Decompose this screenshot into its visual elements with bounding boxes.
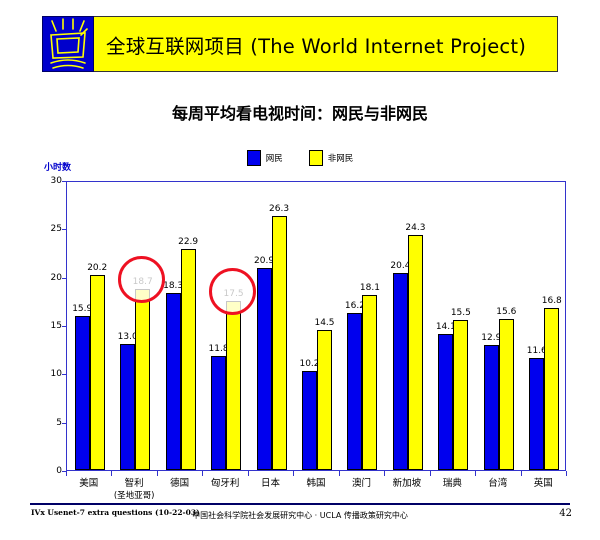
bar-nonuser[interactable]: 18.1 [362, 295, 377, 470]
legend-label-nonuser: 非网民 [328, 152, 354, 164]
bar-user[interactable]: 18.3 [166, 293, 181, 470]
x-tick-mark [430, 471, 431, 476]
bar-value-label: 18.7 [133, 277, 153, 287]
bar-value-label: 18.1 [360, 283, 380, 293]
bar-value-label: 12.9 [481, 333, 501, 343]
bar-nonuser[interactable]: 17.5 [226, 301, 241, 470]
bar-group: 18.322.9 [166, 182, 196, 470]
x-tick-mark [293, 471, 294, 476]
bar-value-label: 18.3 [163, 281, 183, 291]
x-tick-mark [157, 471, 158, 476]
bar-user[interactable]: 13.0 [120, 344, 135, 470]
chart-plot-wrapper: 15.920.213.018.718.322.911.817.520.926.3… [0, 0, 600, 540]
x-axis-label: 德国 [170, 478, 189, 490]
x-tick-mark [384, 471, 385, 476]
y-tick-label: 20 [36, 273, 62, 283]
bar-nonuser[interactable]: 20.2 [90, 275, 105, 470]
y-tick-mark [62, 278, 66, 279]
page-title: 全球互联网项目 (The World Internet Project) [106, 30, 526, 59]
x-tick-mark [566, 471, 567, 476]
y-tick-mark [62, 326, 66, 327]
bar-user[interactable]: 20.9 [257, 268, 272, 470]
bar-user[interactable]: 20.4 [393, 273, 408, 470]
monitor-globe-icon-glyph [43, 17, 93, 71]
bar-group: 12.915.6 [484, 182, 514, 470]
x-tick-mark [111, 471, 112, 476]
bar-value-label: 15.5 [451, 308, 471, 318]
bar-user[interactable]: 14.1 [438, 334, 453, 470]
y-tick-label: 25 [36, 224, 62, 234]
highlight-chile-nonuser [118, 256, 165, 303]
bar-nonuser[interactable]: 14.5 [317, 330, 332, 470]
x-axis-sublabel: (圣地亚哥) [114, 490, 155, 502]
page-number: 42 [559, 508, 572, 519]
bar-user[interactable]: 10.2 [302, 371, 317, 470]
bar-value-label: 20.4 [390, 261, 410, 271]
bar-user[interactable]: 11.6 [529, 358, 544, 470]
chart-legend: 网民 非网民 [0, 150, 600, 166]
x-axis-label: 瑞典 [443, 478, 462, 490]
x-axis-label: 新加坡 [393, 478, 422, 490]
y-tick-label: 10 [36, 369, 62, 379]
x-axis-label: 澳门 [352, 478, 371, 490]
bar-user[interactable]: 11.8 [211, 356, 226, 470]
x-axis-label: 台湾 [488, 478, 507, 490]
y-tick-mark [62, 471, 66, 472]
yellow-square-swatch [309, 150, 323, 166]
bar-value-label: 14.1 [436, 322, 456, 332]
bar-value-label: 14.5 [314, 318, 334, 328]
highlight-hungary-nonuser [209, 268, 256, 315]
chart-plot-area: 15.920.213.018.718.322.911.817.520.926.3… [66, 181, 566, 471]
bar-value-label: 26.3 [269, 204, 289, 214]
bar-value-label: 11.6 [527, 346, 547, 356]
y-tick-mark [62, 374, 66, 375]
bar-user[interactable]: 12.9 [484, 345, 499, 470]
bar-user[interactable]: 15.9 [75, 316, 90, 470]
blue-square-swatch [247, 150, 261, 166]
y-tick-mark [62, 181, 66, 182]
y-tick-mark [62, 423, 66, 424]
bar-value-label: 11.8 [209, 344, 229, 354]
bar-value-label: 10.2 [299, 359, 319, 369]
slide-title-banner: 全球互联网项目 (The World Internet Project) [42, 16, 558, 72]
x-axis-label: 日本 [261, 478, 280, 490]
legend-item-nonuser[interactable]: 非网民 [309, 150, 354, 166]
bar-group: 16.218.1 [347, 182, 377, 470]
y-tick-mark [62, 229, 66, 230]
bar-value-label: 22.9 [178, 237, 198, 247]
y-tick-label: 15 [36, 321, 62, 331]
bar-value-label: 15.6 [496, 307, 516, 317]
bar-group: 11.616.8 [529, 182, 559, 470]
footer-center-text: 中国社会科学院社会发展研究中心 · UCLA 传播政策研究中心 [0, 510, 600, 521]
x-axis-label: 智利(圣地亚哥) [114, 478, 155, 502]
legend-label-user: 网民 [266, 152, 283, 164]
bar-nonuser[interactable]: 22.9 [181, 249, 196, 470]
bar-nonuser[interactable]: 26.3 [272, 216, 287, 470]
x-axis-label: 英国 [534, 478, 553, 490]
x-tick-mark [339, 471, 340, 476]
bar-group: 20.424.3 [393, 182, 423, 470]
bar-value-label: 20.9 [254, 256, 274, 266]
y-axis-title: 小时数 [44, 160, 71, 173]
bar-group: 15.920.2 [75, 182, 105, 470]
bar-value-label: 17.5 [224, 289, 244, 299]
bar-group: 20.926.3 [257, 182, 287, 470]
x-axis-label: 韩国 [306, 478, 325, 490]
bar-value-label: 24.3 [405, 223, 425, 233]
footer-divider [30, 503, 570, 505]
monitor-globe-icon [42, 16, 94, 72]
bar-group: 14.115.5 [438, 182, 468, 470]
y-tick-label: 5 [36, 418, 62, 428]
bar-value-label: 15.9 [72, 304, 92, 314]
bar-group: 10.214.5 [302, 182, 332, 470]
bar-value-label: 20.2 [87, 263, 107, 273]
x-tick-mark [521, 471, 522, 476]
bar-nonuser[interactable]: 15.5 [453, 320, 468, 470]
x-tick-mark [475, 471, 476, 476]
x-axis-label: 美国 [79, 478, 98, 490]
x-axis-label: 匈牙利 [211, 478, 240, 490]
bar-group: 11.817.5 [211, 182, 241, 470]
bar-group: 13.018.7 [120, 182, 150, 470]
bar-value-label: 13.0 [118, 332, 138, 342]
y-tick-label: 0 [36, 466, 62, 476]
chart-title: 每周平均看电视时间：网民与非网民 [0, 100, 600, 124]
bar-user[interactable]: 16.2 [347, 313, 362, 470]
legend-item-user[interactable]: 网民 [247, 150, 283, 166]
x-tick-mark [202, 471, 203, 476]
y-tick-label: 30 [36, 176, 62, 186]
bar-nonuser[interactable]: 16.8 [544, 308, 559, 470]
bar-value-label: 16.8 [542, 296, 562, 306]
title-bar: 全球互联网项目 (The World Internet Project) [94, 16, 558, 72]
bar-nonuser[interactable]: 18.7 [135, 289, 150, 470]
x-tick-mark [66, 471, 67, 476]
x-tick-mark [248, 471, 249, 476]
bar-nonuser[interactable]: 15.6 [499, 319, 514, 470]
bar-nonuser[interactable]: 24.3 [408, 235, 423, 470]
bar-value-label: 16.2 [345, 301, 365, 311]
